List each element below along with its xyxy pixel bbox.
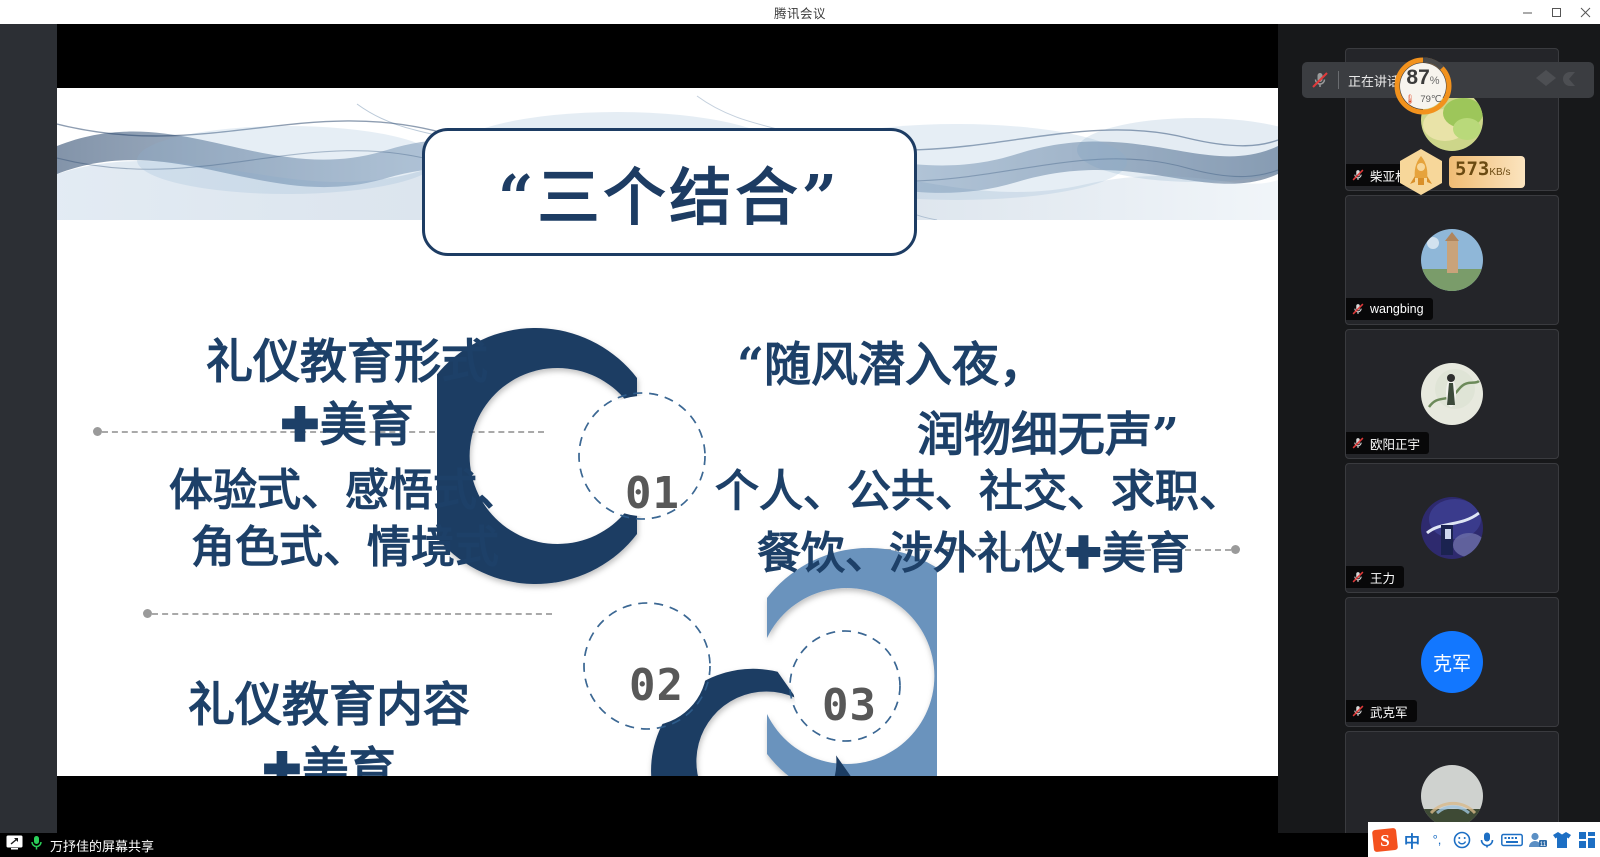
name-chip: wangbing <box>1346 298 1433 320</box>
share-screen-icon[interactable] <box>6 835 23 855</box>
apps-grid-icon[interactable] <box>1576 827 1598 853</box>
slide-title-plaque: “三个结合” <box>422 128 917 256</box>
left-top-line3: 体验式、感悟式、 <box>135 465 555 517</box>
left-gutter <box>0 24 57 833</box>
name-chip: 武克军 <box>1346 700 1417 722</box>
screen-share-stage: “三个结合” <box>57 24 1278 833</box>
name-chip: 王力 <box>1346 566 1404 588</box>
spiral-number-03: 03 <box>822 680 877 731</box>
right-quote-line2: 润物细无声” <box>917 408 1179 463</box>
slide-title-text: “三个结合” <box>498 147 841 237</box>
participant-tile-2[interactable]: 欧阳正宇 <box>1345 329 1559 459</box>
prev-page-arrow[interactable] <box>1533 67 1559 94</box>
right-quote-line1: “随风潜入夜， <box>737 338 1046 393</box>
avatar <box>1421 497 1483 559</box>
sogou-logo-icon[interactable]: S <box>1372 827 1398 853</box>
cpu-usage-value: 87 <box>1406 66 1429 89</box>
participant-tile-1[interactable]: wangbing <box>1345 195 1559 325</box>
left-top-line2-text: 美育 <box>320 398 414 453</box>
cpu-usage-unit: % <box>1430 75 1440 87</box>
right-line4-a: 餐饮、涉外礼仪 <box>757 528 1065 579</box>
avatar <box>1421 363 1483 425</box>
mic-muted-icon <box>1351 436 1365 450</box>
network-speed-widget[interactable]: 573KB/s <box>1397 148 1525 196</box>
network-speed-value: 573 <box>1455 158 1489 180</box>
avatar-initials: 克军 <box>1421 631 1483 693</box>
keyboard-icon[interactable] <box>1501 827 1523 853</box>
svg-text:S: S <box>1380 831 1389 850</box>
minimize-button[interactable] <box>1513 0 1542 24</box>
connector-dot-left-top <box>93 427 102 436</box>
maximize-button[interactable] <box>1542 0 1571 24</box>
name-chip: 欧阳正宇 <box>1346 432 1429 454</box>
right-line3: 个人、公共、社交、求职、 <box>715 466 1243 518</box>
next-page-arrow[interactable] <box>1561 67 1587 94</box>
left-top-line4: 角色式、情境式 <box>135 522 555 574</box>
left-top-line1: 礼仪教育形式 <box>137 335 557 390</box>
spiral-number-02: 02 <box>629 660 684 711</box>
page-arrows <box>1533 67 1587 94</box>
plus-icon-left-bottom: ✚ <box>262 743 301 776</box>
window-titlebar: 腾讯会议 <box>0 0 1600 24</box>
emoji-icon[interactable] <box>1451 827 1473 853</box>
participant-name: wangbing <box>1370 302 1424 316</box>
share-status-label: 万抒佳的屏幕共享 <box>50 836 154 855</box>
avatar <box>1421 229 1483 291</box>
connector-dot-right <box>1231 545 1240 554</box>
participant-tile-3[interactable]: 王力 <box>1345 463 1559 593</box>
speaker-status-label: 正在讲话 <box>1348 71 1400 90</box>
mic-muted-icon <box>1310 70 1330 90</box>
participant-name: 武克军 <box>1370 702 1408 721</box>
network-speed-unit: KB/s <box>1489 167 1510 178</box>
page-title: 腾讯会议 <box>774 3 826 22</box>
cpu-gauge-widget[interactable]: 87% 🌡 79℃ <box>1394 57 1452 115</box>
presentation-slide: “三个结合” <box>57 88 1278 776</box>
rocket-icon <box>1397 148 1445 196</box>
speaker-divider <box>1338 71 1339 89</box>
left-bottom-line1: 礼仪教育内容 <box>119 678 539 733</box>
window-controls <box>1513 0 1600 24</box>
skin-theme-icon[interactable] <box>1551 827 1573 853</box>
microphone-icon[interactable] <box>30 835 43 856</box>
connector-dot-left-bottom <box>143 609 152 618</box>
left-bottom-line2-text: 美育 <box>302 743 396 776</box>
user-account-icon[interactable]: 11 <box>1526 827 1548 853</box>
left-bottom-line2: ✚美育 <box>119 743 539 776</box>
mic-muted-icon <box>1351 168 1365 182</box>
avatar-initials-text: 克军 <box>1433 649 1471 676</box>
plus-icon-right: ✚ <box>1065 528 1102 579</box>
mic-muted-icon <box>1351 704 1365 718</box>
voice-input-icon[interactable] <box>1476 827 1498 853</box>
sogou-ime-toolbar: S 中 °, 11 <box>1368 822 1600 857</box>
participant-name: 王力 <box>1370 568 1395 587</box>
mic-muted-icon <box>1351 570 1365 584</box>
avatar <box>1421 765 1483 827</box>
spiral-number-01: 01 <box>625 468 680 519</box>
svg-text:11: 11 <box>1540 842 1547 848</box>
left-top-line2: ✚美育 <box>137 398 557 453</box>
right-line4-b: 美育 <box>1102 528 1190 579</box>
participant-tile-4[interactable]: 克军 武克军 <box>1345 597 1559 727</box>
screen-share-statusbar: 万抒佳的屏幕共享 <box>0 833 1600 857</box>
close-button[interactable] <box>1571 0 1600 24</box>
mic-muted-icon <box>1351 302 1365 316</box>
right-line4: 餐饮、涉外礼仪✚美育 <box>757 528 1190 580</box>
thermometer-icon: 🌡 <box>1404 94 1415 104</box>
ime-punctuation-toggle[interactable]: °, <box>1426 827 1448 853</box>
cpu-temperature-value: 79℃ <box>1420 94 1441 105</box>
ime-mode-toggle[interactable]: 中 <box>1401 827 1423 853</box>
participant-name: 欧阳正宇 <box>1370 434 1420 453</box>
app-root: 腾讯会议 <box>0 0 1600 857</box>
plus-icon-left-top: ✚ <box>280 398 319 453</box>
